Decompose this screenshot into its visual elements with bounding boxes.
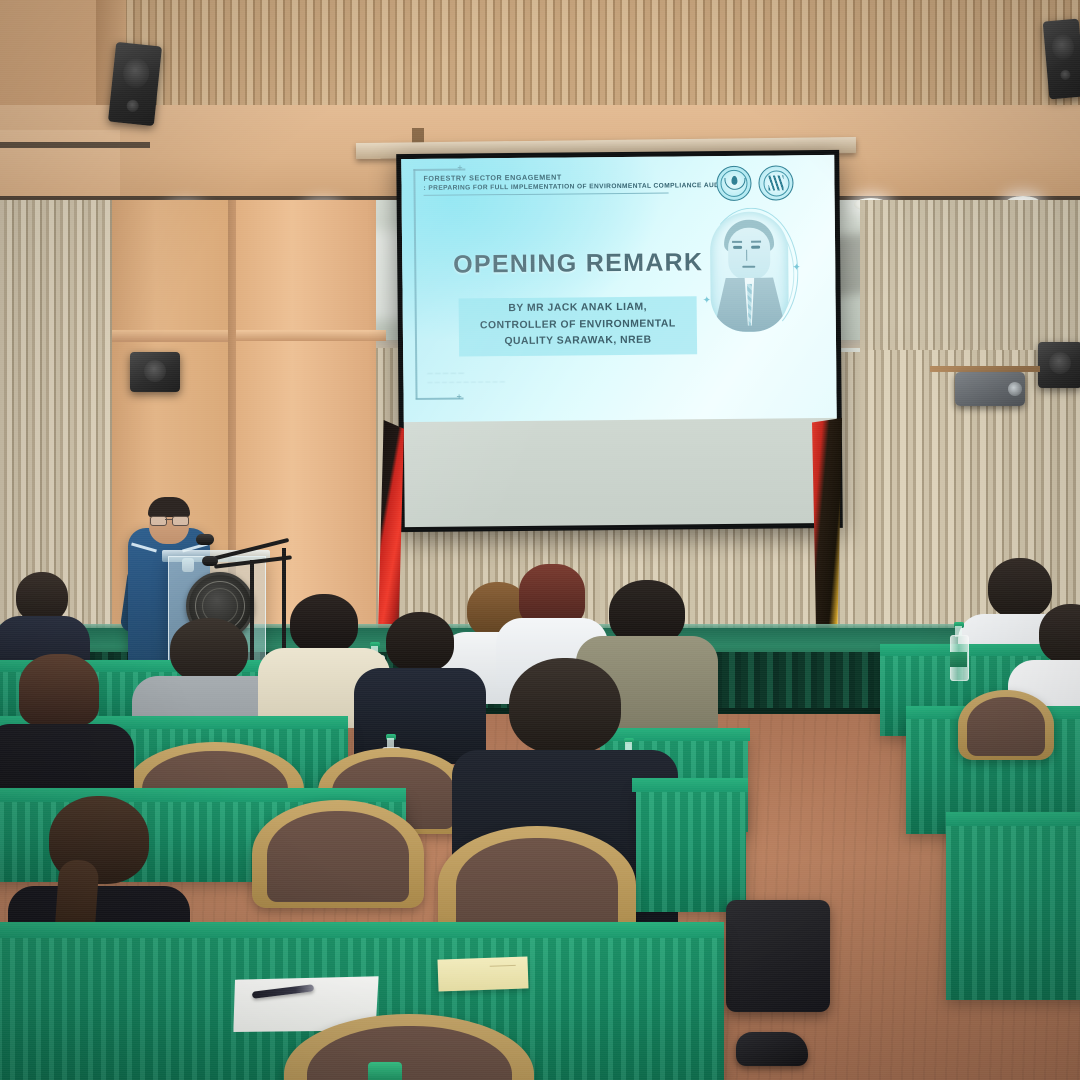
wall-speaker-right bbox=[1043, 19, 1080, 100]
backpack-on-floor bbox=[726, 900, 830, 1012]
table-row3-right-top bbox=[946, 812, 1080, 826]
speaker-cone bbox=[1049, 352, 1071, 374]
tan-wall-moulding bbox=[236, 330, 386, 341]
flag-right bbox=[812, 418, 842, 640]
attendee-head bbox=[290, 594, 358, 654]
projection-screen: + + FORESTRY SECTOR ENGAGEMENT : PREPARI… bbox=[396, 150, 843, 532]
table-row3-right bbox=[946, 820, 1080, 1000]
curtain-right-upper bbox=[860, 200, 1080, 350]
wall-speaker-mid-left bbox=[130, 352, 180, 392]
eyeglasses-icon bbox=[150, 516, 188, 524]
soffit-shadow-line-left bbox=[0, 142, 150, 148]
speaker-tweeter bbox=[1060, 70, 1071, 81]
microphone-capsule bbox=[202, 556, 218, 566]
attendee-head bbox=[19, 654, 99, 726]
presenter-hair bbox=[148, 497, 190, 517]
speaker-cone bbox=[1051, 33, 1075, 61]
banquet-chair[interactable] bbox=[284, 1014, 534, 1080]
pillar-cap-moulding bbox=[112, 330, 237, 342]
table-row4-foreground-top bbox=[0, 922, 724, 938]
attendee-head bbox=[386, 612, 454, 672]
attendee-head bbox=[170, 618, 248, 682]
wall-speaker-mid-right bbox=[1038, 342, 1080, 388]
wall-speaker-left bbox=[108, 42, 162, 126]
microphone-capsule bbox=[196, 534, 214, 545]
speaker-cone bbox=[144, 360, 166, 382]
projector-lens bbox=[1008, 382, 1022, 396]
yellow-notepad[interactable] bbox=[437, 956, 528, 991]
screen-sheen bbox=[401, 155, 838, 527]
table-row3-center-top bbox=[632, 778, 748, 792]
attendee-head bbox=[1039, 604, 1080, 664]
table-row3-center bbox=[636, 786, 746, 912]
bottle-cap bbox=[368, 1062, 402, 1080]
slatted-wood-ceiling-band bbox=[0, 0, 1080, 120]
notepad-line bbox=[490, 965, 516, 967]
speaker-tweeter bbox=[126, 99, 139, 112]
conference-hall-photo: + + FORESTRY SECTOR ENGAGEMENT : PREPARI… bbox=[0, 0, 1080, 1080]
banquet-chair[interactable] bbox=[252, 800, 424, 908]
speaker-cone bbox=[122, 57, 151, 90]
attendee-head bbox=[16, 572, 68, 622]
shoe-on-floor bbox=[736, 1032, 808, 1066]
attendee-head bbox=[509, 658, 621, 754]
banquet-chair[interactable] bbox=[958, 690, 1054, 760]
